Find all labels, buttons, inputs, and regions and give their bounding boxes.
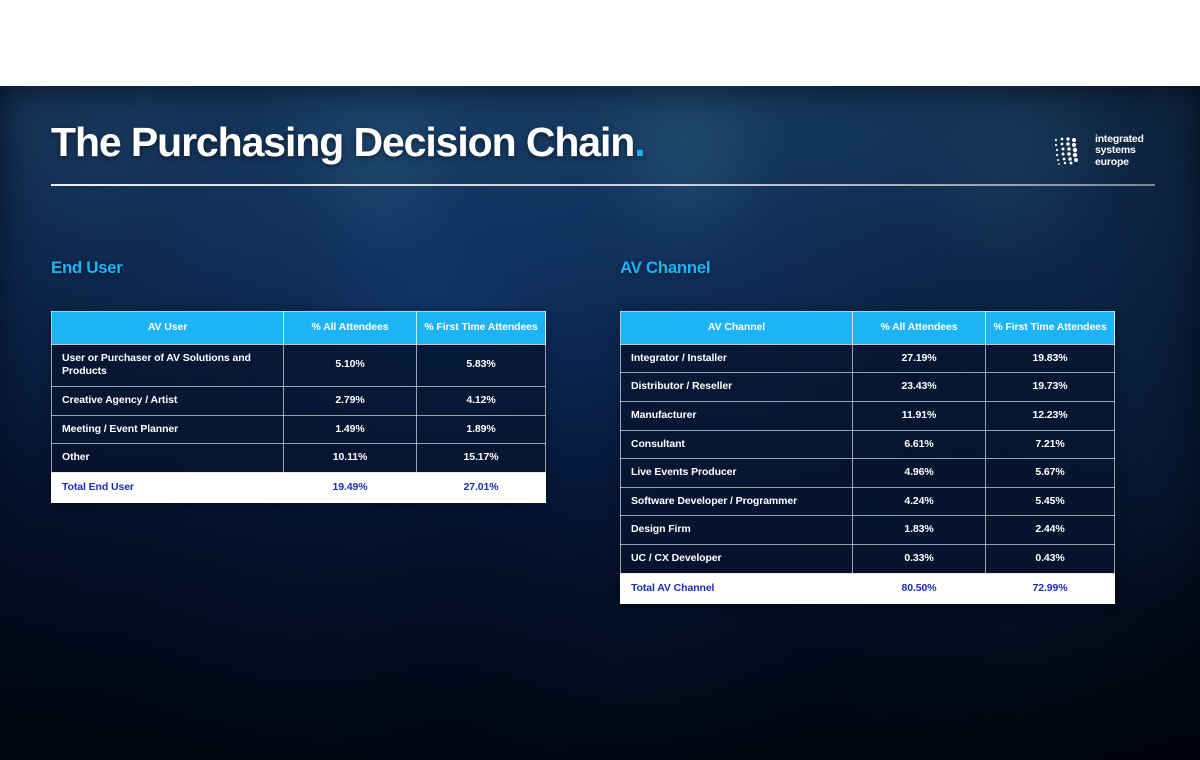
page-title: The Purchasing Decision Chain. bbox=[51, 122, 645, 163]
row-value-first: 0.43% bbox=[986, 545, 1115, 574]
column-header-av-channel[interactable]: AV Channel bbox=[621, 312, 853, 345]
row-value-all: 1.49% bbox=[284, 415, 417, 444]
row-label: User or Purchaser of AV Solutions and Pr… bbox=[52, 344, 284, 386]
row-value-all: 1.83% bbox=[853, 516, 986, 545]
page-title-text: The Purchasing Decision Chain bbox=[51, 119, 634, 165]
row-value-all: 2.79% bbox=[284, 386, 417, 415]
logo-line-3: europe bbox=[1095, 157, 1144, 168]
row-value-first: 7.21% bbox=[986, 430, 1115, 459]
row-value-all: 10.11% bbox=[284, 444, 417, 473]
total-value-first: 72.99% bbox=[986, 573, 1115, 604]
column-header-first-time[interactable]: % First Time Attendees bbox=[986, 312, 1115, 345]
table-row: Consultant 6.61% 7.21% bbox=[621, 430, 1115, 459]
table-av-channel: AV Channel % All Attendees % First Time … bbox=[620, 311, 1115, 604]
table-row: Manufacturer 11.91% 12.23% bbox=[621, 401, 1115, 430]
row-value-first: 15.17% bbox=[417, 444, 546, 473]
table-row: Live Events Producer 4.96% 5.67% bbox=[621, 459, 1115, 488]
slide-canvas: The Purchasing Decision Chain. integrate… bbox=[0, 86, 1200, 760]
row-value-first: 12.23% bbox=[986, 401, 1115, 430]
column-header-all-attendees[interactable]: % All Attendees bbox=[853, 312, 986, 345]
table-row: Creative Agency / Artist 2.79% 4.12% bbox=[52, 386, 546, 415]
row-label: Design Firm bbox=[621, 516, 853, 545]
row-value-first: 4.12% bbox=[417, 386, 546, 415]
row-value-first: 19.73% bbox=[986, 373, 1115, 402]
row-label: Consultant bbox=[621, 430, 853, 459]
row-value-all: 4.24% bbox=[853, 487, 986, 516]
ise-logo-text: integrated systems europe bbox=[1095, 134, 1144, 168]
page-title-accent-dot: . bbox=[634, 119, 644, 165]
row-value-first: 19.83% bbox=[986, 344, 1115, 373]
total-label: Total AV Channel bbox=[621, 573, 853, 604]
table-total-row: Total End User 19.49% 27.01% bbox=[52, 472, 546, 503]
row-label: Integrator / Installer bbox=[621, 344, 853, 373]
table-end-user: AV User % All Attendees % First Time Att… bbox=[51, 311, 546, 503]
ise-logo: integrated systems europe bbox=[1053, 134, 1144, 168]
section-heading-av-channel-dot: . bbox=[710, 258, 714, 277]
top-white-margin bbox=[0, 0, 1200, 86]
row-label: UC / CX Developer bbox=[621, 545, 853, 574]
row-label: Software Developer / Programmer bbox=[621, 487, 853, 516]
table-row: User or Purchaser of AV Solutions and Pr… bbox=[52, 344, 546, 386]
table-row: Design Firm 1.83% 2.44% bbox=[621, 516, 1115, 545]
column-header-av-user[interactable]: AV User bbox=[52, 312, 284, 345]
row-label: Manufacturer bbox=[621, 401, 853, 430]
table-row: Distributor / Reseller 23.43% 19.73% bbox=[621, 373, 1115, 402]
row-label: Distributor / Reseller bbox=[621, 373, 853, 402]
table-row: Other 10.11% 15.17% bbox=[52, 444, 546, 473]
total-value-all: 19.49% bbox=[284, 472, 417, 503]
table-row: Meeting / Event Planner 1.49% 1.89% bbox=[52, 415, 546, 444]
table-total-row: Total AV Channel 80.50% 72.99% bbox=[621, 573, 1115, 604]
row-label: Other bbox=[52, 444, 284, 473]
section-heading-av-channel-text: AV Channel bbox=[620, 258, 710, 277]
row-value-first: 5.83% bbox=[417, 344, 546, 386]
row-value-all: 6.61% bbox=[853, 430, 986, 459]
dot-matrix-logo-icon bbox=[1053, 136, 1087, 166]
column-header-first-time[interactable]: % First Time Attendees bbox=[417, 312, 546, 345]
row-value-all: 27.19% bbox=[853, 344, 986, 373]
table-header-row: AV User % All Attendees % First Time Att… bbox=[52, 312, 546, 345]
column-header-all-attendees[interactable]: % All Attendees bbox=[284, 312, 417, 345]
table-row: Integrator / Installer 27.19% 19.83% bbox=[621, 344, 1115, 373]
table-header-row: AV Channel % All Attendees % First Time … bbox=[621, 312, 1115, 345]
row-value-all: 5.10% bbox=[284, 344, 417, 386]
row-value-all: 0.33% bbox=[853, 545, 986, 574]
table-row: Software Developer / Programmer 4.24% 5.… bbox=[621, 487, 1115, 516]
section-heading-end-user: End User. bbox=[51, 258, 126, 278]
row-value-first: 5.67% bbox=[986, 459, 1115, 488]
row-label: Live Events Producer bbox=[621, 459, 853, 488]
section-heading-av-channel: AV Channel. bbox=[620, 258, 714, 278]
title-divider-rule bbox=[51, 184, 1155, 186]
total-value-all: 80.50% bbox=[853, 573, 986, 604]
table-row: UC / CX Developer 0.33% 0.43% bbox=[621, 545, 1115, 574]
total-value-first: 27.01% bbox=[417, 472, 546, 503]
row-value-first: 1.89% bbox=[417, 415, 546, 444]
row-value-all: 11.91% bbox=[853, 401, 986, 430]
row-label: Meeting / Event Planner bbox=[52, 415, 284, 444]
logo-line-2: systems bbox=[1095, 145, 1144, 156]
row-value-all: 4.96% bbox=[853, 459, 986, 488]
row-value-first: 5.45% bbox=[986, 487, 1115, 516]
total-label: Total End User bbox=[52, 472, 284, 503]
section-heading-end-user-text: End User bbox=[51, 258, 122, 277]
row-label: Creative Agency / Artist bbox=[52, 386, 284, 415]
row-value-all: 23.43% bbox=[853, 373, 986, 402]
section-heading-end-user-dot: . bbox=[122, 258, 126, 277]
row-value-first: 2.44% bbox=[986, 516, 1115, 545]
